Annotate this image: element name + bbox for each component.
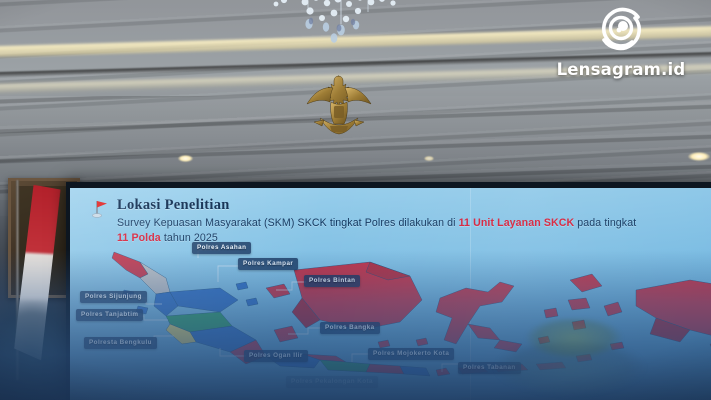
flower-arrangement-icon [470, 318, 670, 400]
slide-title: Lokasi Penelitian [117, 198, 230, 213]
slide-subtitle: Survey Kepuasan Masyarakat (SKM) SKCK ti… [117, 216, 711, 245]
map-label-chip[interactable]: Polresta Bengkulu [84, 337, 157, 349]
screenshot-frame: Lokasi Penelitian Survey Kepuasan Masyar… [0, 0, 711, 400]
map-label-chip[interactable]: Polres Sijunjung [80, 291, 147, 303]
slide-subtitle-part1: Survey Kepuasan Masyarakat (SKM) SKCK ti… [117, 217, 459, 229]
watermark-text: Lensagram.id [541, 60, 701, 79]
map-label-chip[interactable]: Polres Kampar [238, 258, 298, 270]
recessed-downlight-icon [178, 155, 193, 162]
camera-spiral-icon [592, 4, 650, 54]
crystal-chandelier-icon [248, 0, 434, 56]
map-label-chip[interactable]: Polres Mojokerto Kota [368, 348, 454, 360]
slide-highlight-polda: 11 Polda [117, 232, 161, 244]
garuda-pancasila-emblem [300, 66, 378, 138]
map-label-chip[interactable]: Polres Ogan Ilir [244, 350, 308, 362]
watermark: Lensagram.id [541, 4, 701, 79]
map-label-chip[interactable]: Polres Asahan [192, 242, 251, 254]
recessed-downlight-icon [424, 156, 434, 161]
slide-subtitle-part2: pada tingkat [574, 217, 636, 229]
map-label-chip[interactable]: Polres Tanjabtim [76, 309, 143, 321]
recessed-downlight-icon [688, 152, 710, 161]
map-label-chip[interactable]: Polres Pekalongan Kota [286, 376, 378, 388]
map-label-chip[interactable]: Polres Bintan [304, 275, 360, 287]
map-label-chip[interactable]: Polres Bangka [320, 322, 380, 334]
red-flag-pin-icon [92, 199, 110, 219]
slide-highlight-units: 11 Unit Layanan SKCK [459, 217, 575, 229]
